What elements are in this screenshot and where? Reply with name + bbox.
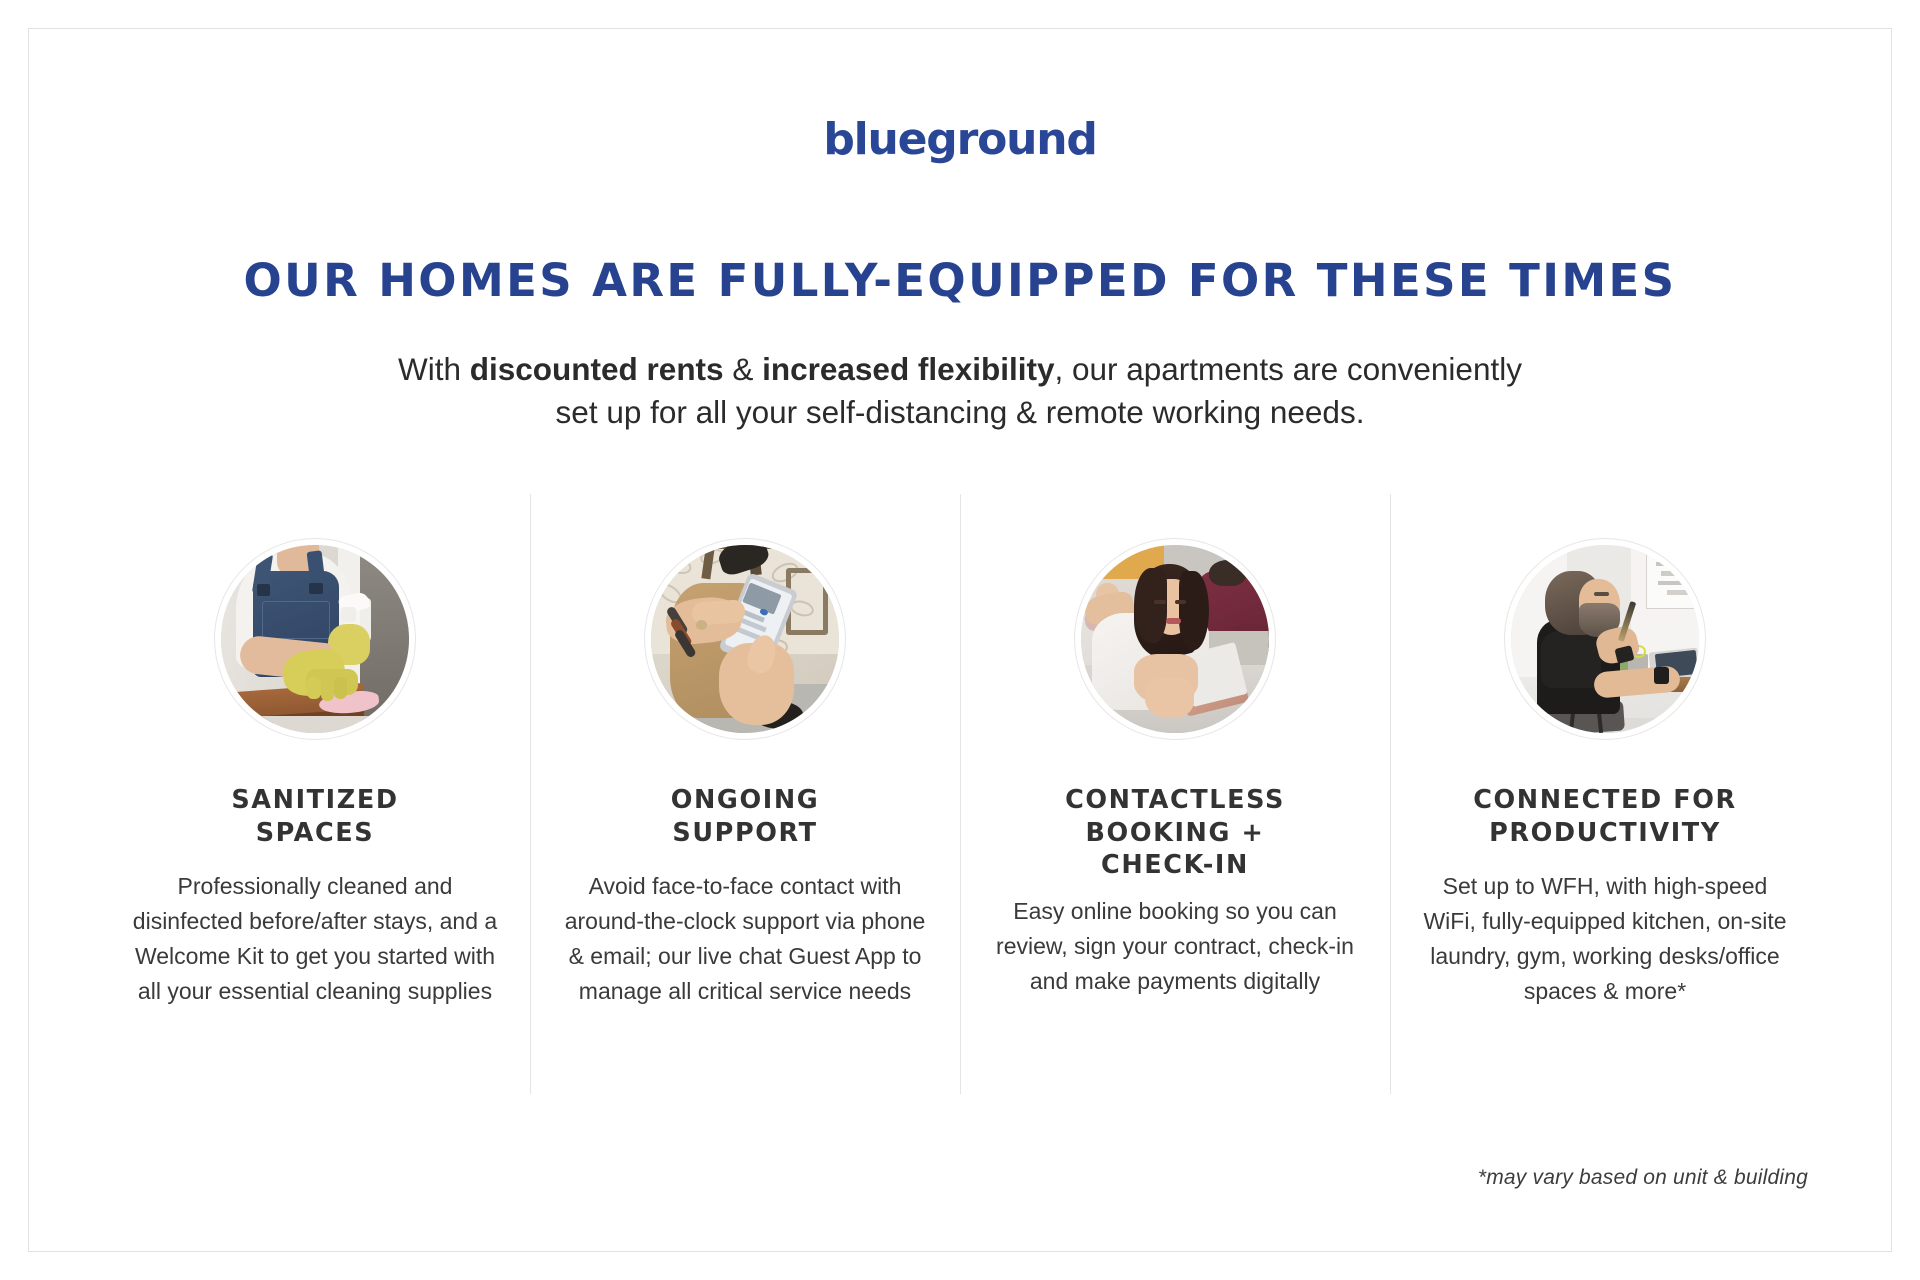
feature-card-body: Set up to WFH, with high-speed WiFi, ful…	[1416, 869, 1794, 1009]
subtitle-line-2: set up for all your self-distancing & re…	[556, 394, 1365, 430]
feature-columns: SANITIZED SPACES Professionally cleaned …	[100, 538, 1820, 1148]
feature-card-sanitized-spaces: SANITIZED SPACES Professionally cleaned …	[100, 538, 530, 1148]
feature-card-body: Easy online booking so you can review, s…	[986, 894, 1364, 999]
page-title: OUR HOMES ARE FULLY-EQUIPPED FOR THESE T…	[0, 256, 1920, 306]
feature-card-title: SANITIZED SPACES	[126, 784, 504, 849]
feature-card-title-line-1: SANITIZED	[231, 785, 398, 815]
feature-card-title-line-1: CONTACTLESS	[1065, 785, 1285, 815]
footnote-disclaimer: *may vary based on unit & building	[1478, 1166, 1808, 1190]
brand-logo-text: blueground	[823, 118, 1096, 162]
subtitle-bold-discounted-rents: discounted rents	[470, 351, 724, 387]
feature-card-ongoing-support: ONGOING SUPPORT Avoid face-to-face conta…	[530, 538, 960, 1148]
photo-tablet-booking-icon	[1074, 538, 1276, 740]
brand-logo: blueground	[0, 118, 1920, 162]
feature-card-title-line-2: PRODUCTIVITY	[1489, 818, 1721, 848]
feature-card-title-line-1: ONGOING	[671, 785, 820, 815]
page-subtitle: With discounted rents & increased flexib…	[260, 348, 1660, 434]
feature-card-title-line-2: SUPPORT	[672, 818, 817, 848]
poster-canvas: blueground OUR HOMES ARE FULLY-EQUIPPED …	[0, 0, 1920, 1280]
photo-cleaning-sanitized-icon	[214, 538, 416, 740]
subtitle-part-2: &	[724, 351, 763, 387]
feature-card-title: ONGOING SUPPORT	[556, 784, 934, 849]
subtitle-part-1: With	[398, 351, 470, 387]
feature-card-title: CONNECTED FOR PRODUCTIVITY	[1416, 784, 1794, 849]
photo-phone-support-icon	[644, 538, 846, 740]
feature-card-title-line-1: CONNECTED FOR	[1473, 785, 1737, 815]
subtitle-part-3: , our apartments are conveniently	[1054, 351, 1522, 387]
feature-card-title-line-3: CHECK-IN	[1101, 850, 1249, 880]
feature-card-title: CONTACTLESS BOOKING + CHECK-IN	[986, 784, 1364, 882]
feature-card-connected-productivity: CONNECTED FOR PRODUCTIVITY Set up to WFH…	[1390, 538, 1820, 1148]
feature-card-title-line-2: SPACES	[256, 818, 375, 848]
feature-card-title-line-2: BOOKING +	[1086, 818, 1265, 848]
feature-card-body: Professionally cleaned and disinfected b…	[126, 869, 504, 1009]
feature-card-body: Avoid face-to-face contact with around-t…	[556, 869, 934, 1009]
photo-desk-productivity-icon	[1504, 538, 1706, 740]
feature-card-contactless-booking: CONTACTLESS BOOKING + CHECK-IN Easy onli…	[960, 538, 1390, 1148]
subtitle-bold-increased-flexibility: increased flexibility	[762, 351, 1054, 387]
